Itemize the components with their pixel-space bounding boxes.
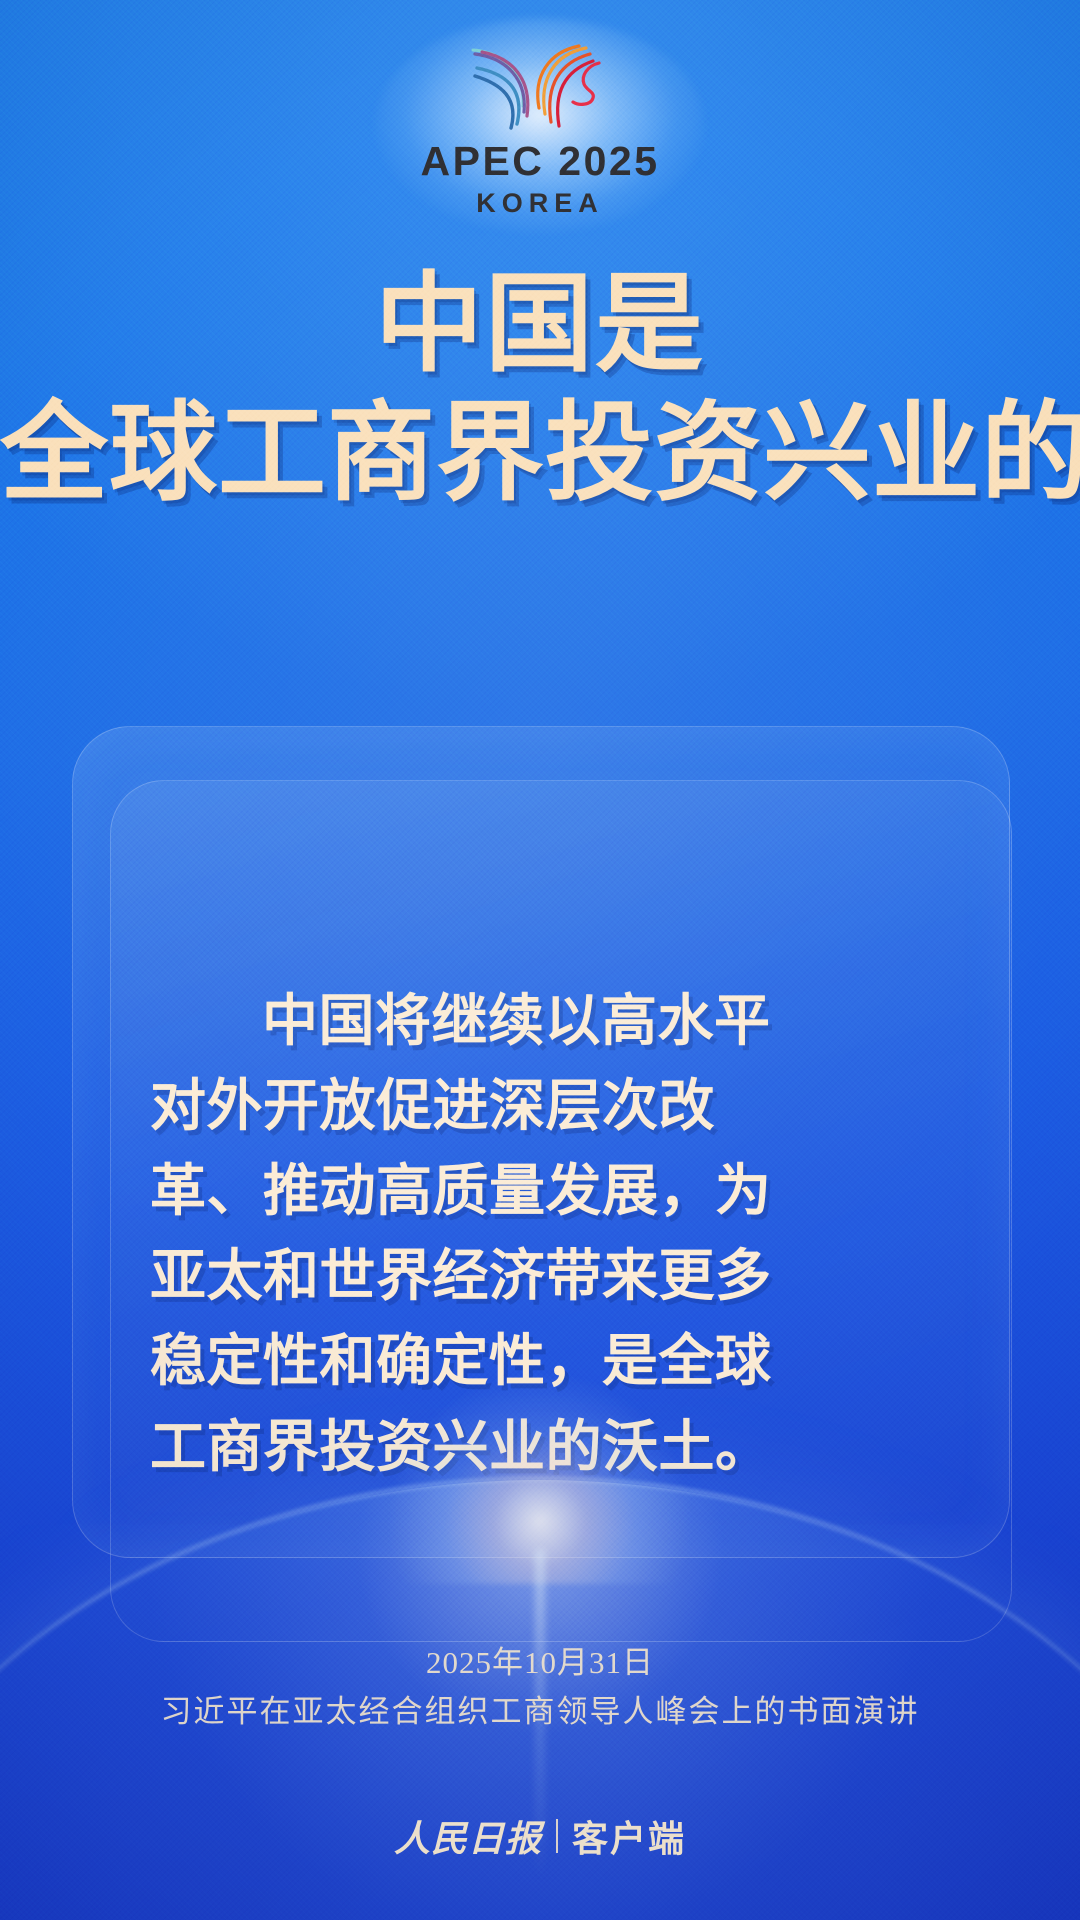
apec-korea-emblem-icon	[453, 28, 628, 143]
logo-wordmark: APEC 2025 KOREA	[420, 141, 659, 217]
poster-canvas: APEC 2025 KOREA 中国是 全球工商界投资兴业的沃土 中国将继续以高…	[0, 0, 1080, 1920]
logo-apec-text: APEC 2025	[420, 141, 659, 182]
publisher-name: 人民日报	[394, 1810, 542, 1862]
apec-logo-block: APEC 2025 KOREA	[0, 28, 1080, 208]
page-title-line2: 全球工商界投资兴业的沃土	[0, 389, 1080, 521]
caption-source: 习近平在亚太经合组织工商领导人峰会上的书面演讲	[0, 1687, 1080, 1737]
brand-divider	[556, 1819, 558, 1853]
publisher-brand: 人民日报 客户端	[0, 1810, 1080, 1862]
logo-korea-text: KOREA	[476, 189, 604, 217]
page-title: 中国是 全球工商界投资兴业的沃土	[0, 262, 1080, 521]
caption-block: 2025年10月31日 习近平在亚太经合组织工商领导人峰会上的书面演讲	[0, 1640, 1080, 1736]
page-title-line1: 中国是	[0, 262, 1080, 389]
caption-date: 2025年10月31日	[0, 1640, 1080, 1687]
brand-product-name: 客户端	[572, 1810, 686, 1862]
